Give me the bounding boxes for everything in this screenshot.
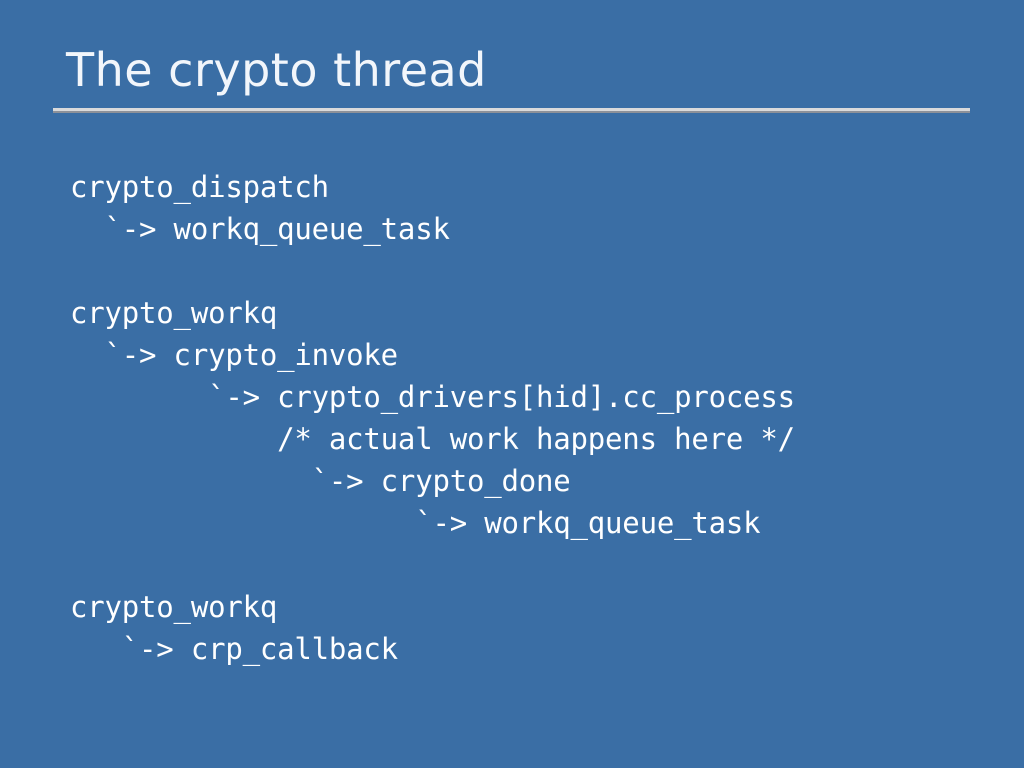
code-line: `-> crypto_invoke (70, 334, 970, 376)
code-line: crypto_dispatch (70, 166, 970, 208)
code-line: `-> crypto_drivers[hid].cc_process (70, 376, 970, 418)
code-line: crypto_workq (70, 586, 970, 628)
code-line: crypto_workq (70, 292, 970, 334)
code-line: `-> workq_queue_task (70, 502, 970, 544)
page-title: The crypto thread (66, 42, 487, 98)
slide-canvas: The crypto thread crypto_dispatch `-> wo… (0, 0, 1024, 768)
code-line: /* actual work happens here */ (70, 418, 970, 460)
code-line-blank (70, 544, 970, 586)
code-line: `-> crypto_done (70, 460, 970, 502)
code-line: `-> crp_callback (70, 628, 970, 670)
code-line: `-> workq_queue_task (70, 208, 970, 250)
title-divider (53, 108, 970, 113)
code-listing: crypto_dispatch `-> workq_queue_task cry… (70, 166, 970, 670)
code-line-blank (70, 250, 970, 292)
